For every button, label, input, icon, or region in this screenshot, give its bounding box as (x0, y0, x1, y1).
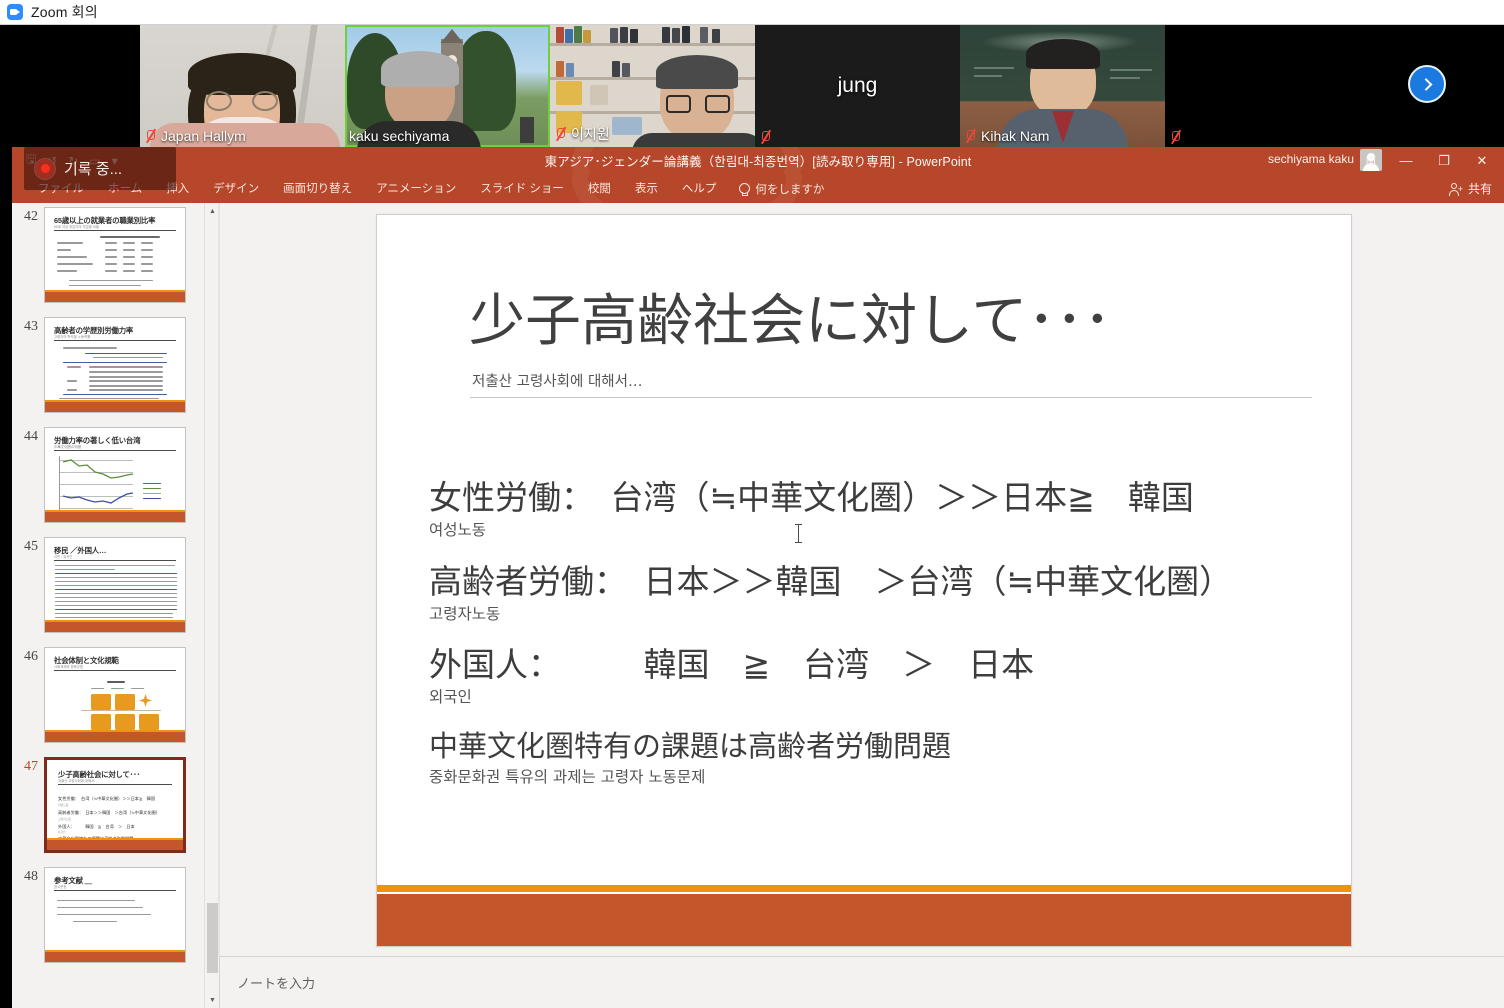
share-person-icon: + (1449, 182, 1463, 196)
slide-number: 48 (16, 867, 38, 885)
thumb-line-chart (45, 428, 186, 523)
muted-microphone-icon (759, 130, 772, 144)
thumbnail-row[interactable]: 44 労働力率の著しく低い台湾 中華文化圏の特徴 (12, 427, 204, 523)
next-participants-page-button[interactable] (1408, 65, 1446, 103)
bullet-2-main[interactable]: 高齢者労働： 日本＞＞韓国 ＞台湾（≒中華文化圏） (429, 565, 1331, 598)
slide-body-text[interactable]: 女性労働： 台湾（≒中華文化圏）＞＞日本≧ 韓国 여성노동 高齢者労働： 日本＞… (429, 481, 1331, 811)
muted-microphone-icon (144, 129, 157, 143)
powerpoint-window: 🖫 ↺ ↻ ▭ ▾ 東アジア･ジェンダー論講義（한림대-최종번역）[読み取り専用… (12, 147, 1504, 1008)
thumbnail-row[interactable]: 45 移民 ／外国人… 이민 / 외국인 (12, 537, 204, 633)
ribbon-tabs: ファイル ホーム 挿入 デザイン 画面切り替え アニメーション スライド ショー… (26, 180, 824, 198)
zoom-meeting-window: Zoom 회의 Japan Hallym (0, 0, 1504, 1008)
tab-design[interactable]: デザイン (201, 180, 271, 198)
thumb-bullet-3-sub: 외국인 (58, 830, 66, 834)
slide-thumbnail-pane[interactable]: 42 65歳以上の就業者の職業別比率 65세 이상 취업자의 직업별 비율 (12, 203, 220, 1008)
thumb-subtitle: 저출산 고령사회에 대해서… (58, 778, 98, 783)
participant-tile-kihak-nam[interactable]: Kihak Nam (960, 25, 1165, 147)
bullet-3-sub[interactable]: 외국인 (429, 690, 1331, 706)
slide-number: 46 (16, 647, 38, 665)
participant-tile-leejiwon[interactable]: 이지원 (550, 25, 755, 147)
share-label: 共有 (1468, 180, 1492, 197)
background-post (520, 117, 534, 143)
slide-number: 42 (16, 207, 38, 225)
slide-editing-stage[interactable]: 少子高齢社会に対して･･･ 저출산 고령사회에 대해서… 女性労働： 台湾（≒中… (220, 203, 1504, 1008)
zoom-camera-icon (7, 4, 23, 20)
thumb-subtitle: 이민 / 외국인 (54, 554, 72, 559)
thumbnail-row-selected[interactable]: 47 少子高齢社会に対して･･･ 저출산 고령사회에 대해서… 女性労働： 台湾… (12, 757, 204, 853)
restore-button[interactable]: ❐ (1424, 147, 1464, 174)
thumb-subtitle: 참고문헌 (54, 884, 66, 889)
muted-microphone-icon (1169, 130, 1182, 144)
avatar-person (646, 61, 750, 147)
bullet-4-main[interactable]: 中華文化圏特有の課題は高齢者労働問題 (429, 732, 1331, 761)
scroll-down-icon[interactable]: ▼ (205, 992, 220, 1008)
minimize-button[interactable]: — (1386, 147, 1426, 174)
tab-slideshow[interactable]: スライド ショー (468, 180, 576, 198)
share-button[interactable]: + 共有 (1449, 180, 1492, 197)
tab-insert[interactable]: 挿入 (154, 180, 201, 198)
participant-tile-japan-hallym[interactable]: Japan Hallym (140, 25, 345, 147)
participant-tile-empty[interactable] (1165, 25, 1370, 147)
slide-thumbnail-44[interactable]: 労働力率の著しく低い台湾 中華文化圏の特徴 (44, 427, 186, 523)
ribbon-tab-bar: ファイル ホーム 挿入 デザイン 画面切り替え アニメーション スライド ショー… (12, 174, 1504, 203)
participant-name: Japan Hallym (161, 128, 246, 144)
notes-pane[interactable]: ノートを入力 (220, 956, 1504, 1008)
thumbnail-row[interactable]: 43 高齢者の学歴別労働力率 고령자의 학력별 노동력률 (12, 317, 204, 413)
avatar-hair (188, 53, 296, 95)
participant-tile-kaku-sechiyama[interactable]: kaku sechiyama (345, 25, 550, 147)
thumbnail-row[interactable]: 48 参考文献 ＿ 참고문헌 (12, 867, 204, 963)
tab-file[interactable]: ファイル (26, 180, 96, 198)
lightbulb-icon (738, 183, 749, 196)
zoom-titlebar: Zoom 회의 (0, 0, 1504, 25)
slide-number: 45 (16, 537, 38, 555)
slide-thumbnail-46[interactable]: 社会体制と文化規範 사회체제와 문화규범 (44, 647, 186, 743)
current-slide[interactable]: 少子高齢社会に対して･･･ 저출산 고령사회에 대해서… 女性労働： 台湾（≒中… (376, 214, 1352, 947)
slide-thumbnail-47[interactable]: 少子高齢社会に対して･･･ 저출산 고령사회에 대해서… 女性労働： 台湾（≒中… (44, 757, 186, 853)
video-strip-left-pad (0, 25, 140, 147)
slide-thumbnail-42[interactable]: 65歳以上の就業者の職業別比率 65세 이상 취업자의 직업별 비율 (44, 207, 186, 303)
thumb-subtitle: 고령자의 학력별 노동력률 (54, 334, 90, 339)
slide-subtitle[interactable]: 저출산 고령사회에 대해서… (472, 370, 642, 391)
tile-background (1171, 25, 1341, 137)
thumb-bullet-3: 外国人： 韓国 ≧ 台湾 ＞ 日本 (58, 824, 135, 830)
participant-video-strip: Japan Hallym kaku sechiyama (0, 25, 1504, 147)
thumb-bullet-2-sub: 고령자노동 (58, 817, 71, 821)
slide-thumbnail-43[interactable]: 高齢者の学歴別労働力率 고령자의 학력별 노동력률 (44, 317, 186, 413)
tab-transitions[interactable]: 画面切り替え (271, 180, 364, 198)
bullet-1-sub[interactable]: 여성노동 (429, 523, 1331, 539)
slide-thumbnail-48[interactable]: 参考文献 ＿ 참고문헌 (44, 867, 186, 963)
thumb-subtitle: 사회체제와 문화규범 (54, 664, 83, 669)
participant-tile-jung[interactable]: jung (755, 25, 960, 147)
slide-number: 44 (16, 427, 38, 445)
participant-name-center: jung (755, 25, 960, 147)
thumb-bullet-1-sub: 여성노동 (58, 803, 68, 807)
participant-nametag: kaku sechiyama (349, 128, 449, 144)
slide-footer-band (377, 894, 1351, 946)
participant-nametag (1169, 130, 1182, 144)
powerpoint-body: 42 65歳以上の就業者の職業別比率 65세 이상 취업자의 직업별 비율 (12, 203, 1504, 1008)
powerpoint-titlebar: 🖫 ↺ ↻ ▭ ▾ 東アジア･ジェンダー論講義（한림대-최종번역）[読み取り専用… (12, 147, 1504, 174)
tell-me-search[interactable]: 何をしますか (728, 181, 824, 197)
slide-title[interactable]: 少子高齢社会に対して･･･ (469, 293, 1311, 352)
thumb-subtitle: 65세 이상 취업자의 직업별 비율 (54, 224, 99, 229)
participant-nametag: Kihak Nam (964, 128, 1049, 144)
slide-number: 47 (16, 757, 38, 775)
avatar-glasses (206, 91, 278, 111)
slide-number: 43 (16, 317, 38, 335)
thumbnail-row[interactable]: 46 社会体制と文化規範 사회체제와 문화규범 (12, 647, 204, 743)
thumb-bullet-2: 高齢者労働： 日本＞＞韓国 ＞台湾（≒中華文化圏） (58, 810, 160, 816)
chevron-right-icon (1419, 78, 1432, 91)
tab-view[interactable]: 表示 (623, 180, 670, 198)
scrollbar-thumb[interactable] (207, 903, 218, 973)
title-divider (470, 397, 1312, 398)
participant-name: kaku sechiyama (349, 128, 449, 144)
text-cursor (798, 524, 799, 543)
participant-name: Kihak Nam (981, 128, 1049, 144)
tell-me-label: 何をしますか (755, 181, 824, 197)
ribbon-display-options-button[interactable]: ⊞ (1354, 147, 1388, 174)
muted-microphone-icon (554, 127, 567, 141)
muted-microphone-icon (964, 129, 977, 143)
bullet-3-main[interactable]: 外国人： 韓国 ≧ 台湾 ＞ 日本 (429, 648, 1331, 681)
tab-help[interactable]: ヘルプ (670, 180, 729, 198)
participant-nametag: Japan Hallym (144, 128, 246, 144)
slide-thumbnail-list: 42 65歳以上の就業者の職業別比率 65세 이상 취업자의 직업별 비율 (12, 203, 204, 977)
tab-review[interactable]: 校閲 (576, 180, 623, 198)
thumbnail-scrollbar[interactable]: ▲ ▼ (204, 203, 219, 1008)
close-button[interactable]: ✕ (1462, 147, 1502, 174)
account-name[interactable]: sechiyama kaku (1268, 152, 1354, 166)
zoom-window-title: Zoom 회의 (31, 2, 98, 22)
notes-placeholder[interactable]: ノートを入力 (237, 973, 315, 992)
participant-nametag (759, 130, 772, 144)
tab-animations[interactable]: アニメーション (364, 180, 468, 198)
thumb-bullet-1: 女性労働： 台湾（≒中華文化圏）＞＞日本≧ 韓国 (58, 796, 155, 802)
participant-name: 이지원 (571, 124, 610, 144)
bullet-2-sub[interactable]: 고령자노동 (429, 607, 1331, 623)
bullet-1-main[interactable]: 女性労働： 台湾（≒中華文化圏）＞＞日本≧ 韓国 (429, 481, 1331, 514)
thumbnail-row[interactable]: 42 65歳以上の就業者の職業別比率 65세 이상 취업자의 직업별 비율 (12, 207, 204, 303)
tab-home[interactable]: ホーム (96, 180, 154, 198)
slide-thumbnail-45[interactable]: 移民 ／外国人… 이민 / 외국인 (44, 537, 186, 633)
participant-nametag: 이지원 (554, 124, 610, 144)
slide-accent-stripe (377, 885, 1351, 892)
bullet-4-sub[interactable]: 중화문화권 특유의 과제는 고령자 노동문제 (429, 770, 1331, 786)
